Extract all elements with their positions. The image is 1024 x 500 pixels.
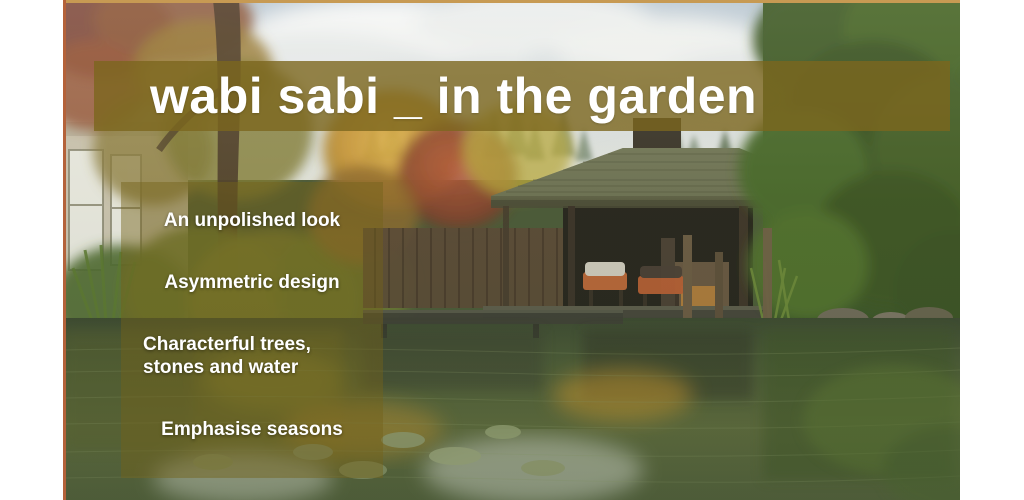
photo-top-border (63, 0, 960, 3)
list-item: Emphasise seasons (121, 418, 383, 441)
photo-left-border (63, 0, 66, 500)
list-item: Characterful trees, stones and water (121, 333, 383, 379)
list-item: An unpolished look (121, 209, 383, 232)
list-item: Asymmetric design (121, 271, 383, 294)
page-title: wabi sabi _ in the garden (94, 71, 757, 121)
title-banner: wabi sabi _ in the garden (94, 61, 950, 131)
key-points-list: An unpolished look Asymmetric design Cha… (121, 182, 383, 478)
slide-root: wabi sabi _ in the garden An unpolished … (0, 0, 1024, 500)
